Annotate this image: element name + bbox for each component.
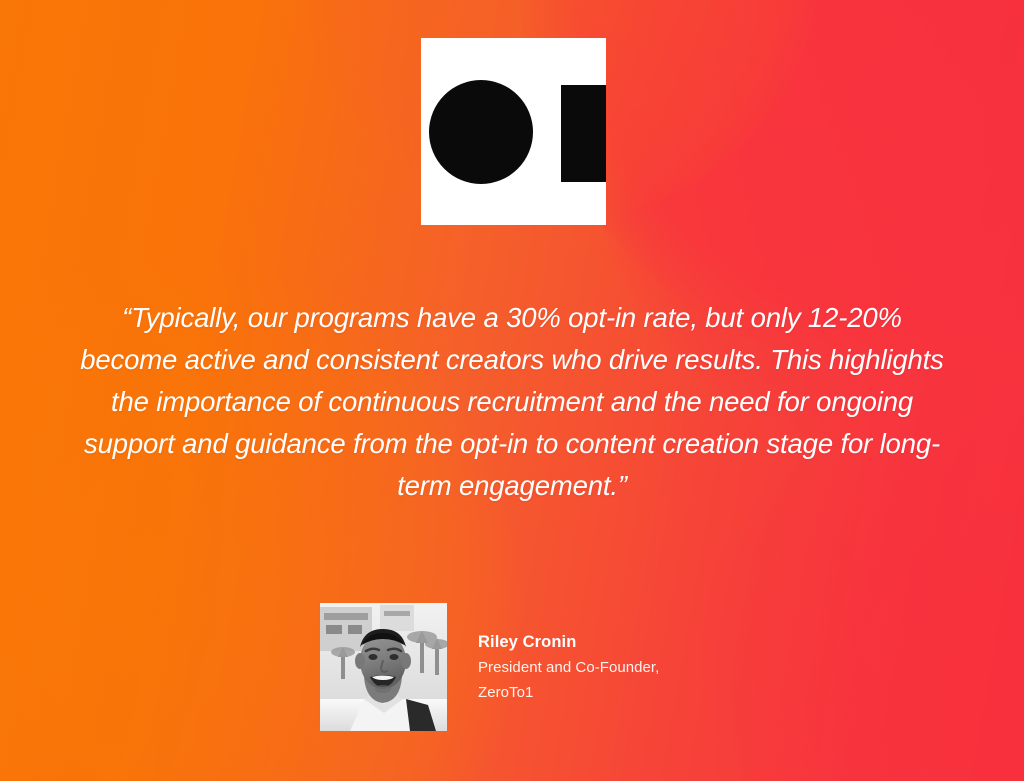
logo-bar-icon xyxy=(561,85,606,182)
person-role-line-1: President and Co-Founder, xyxy=(478,655,659,680)
person-name: Riley Cronin xyxy=(478,629,659,655)
quote-text: “Typically, our programs have a 30% opt-… xyxy=(72,297,952,507)
portrait-photo xyxy=(320,603,447,731)
logo-circle-icon xyxy=(429,80,533,184)
attribution-text: Riley Cronin President and Co-Founder, Z… xyxy=(478,629,659,705)
avatar xyxy=(320,603,447,731)
brand-logo xyxy=(421,38,606,225)
quote-slide: “Typically, our programs have a 30% opt-… xyxy=(0,0,1024,781)
person-role-line-2: ZeroTo1 xyxy=(478,680,659,705)
attribution-block: Riley Cronin President and Co-Founder, Z… xyxy=(320,603,880,733)
